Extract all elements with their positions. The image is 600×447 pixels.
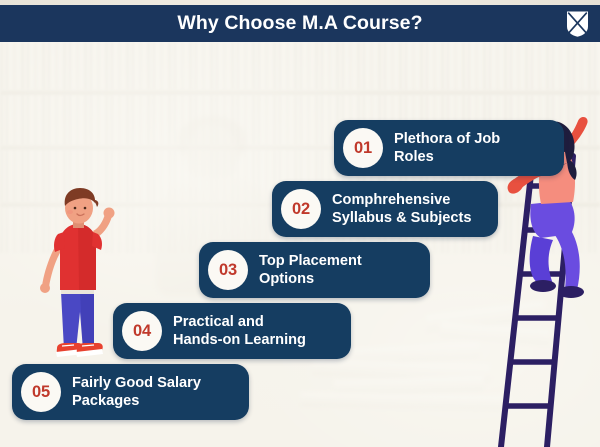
feature-label: Fairly Good Salary Packages (72, 374, 214, 411)
feature-label: Comphrehensive Syllabus & Subjects (332, 191, 485, 228)
shield-saltire-icon[interactable] (565, 9, 590, 38)
feature-label: Top Placement Options (259, 252, 375, 289)
feature-item-3[interactable]: 03 Top Placement Options (199, 242, 430, 298)
feature-number-badge: 02 (281, 189, 321, 229)
feature-number-badge: 03 (208, 250, 248, 290)
infographic-canvas: Why Choose M.A Course? 01 Plethora of Jo… (0, 0, 600, 447)
feature-number-badge: 04 (122, 311, 162, 351)
feature-number-badge: 01 (343, 128, 383, 168)
feature-item-2[interactable]: 02 Comphrehensive Syllabus & Subjects (272, 181, 498, 237)
page-title: Why Choose M.A Course? (177, 12, 422, 35)
header-bar: Why Choose M.A Course? (0, 5, 600, 42)
feature-number-badge: 05 (21, 372, 61, 412)
feature-label: Plethora of Job Roles (394, 130, 513, 167)
feature-item-5[interactable]: 05 Fairly Good Salary Packages (12, 364, 249, 420)
feature-item-4[interactable]: 04 Practical and Hands-on Learning (113, 303, 351, 359)
feature-item-1[interactable]: 01 Plethora of Job Roles (334, 120, 564, 176)
feature-label: Practical and Hands-on Learning (173, 313, 319, 350)
